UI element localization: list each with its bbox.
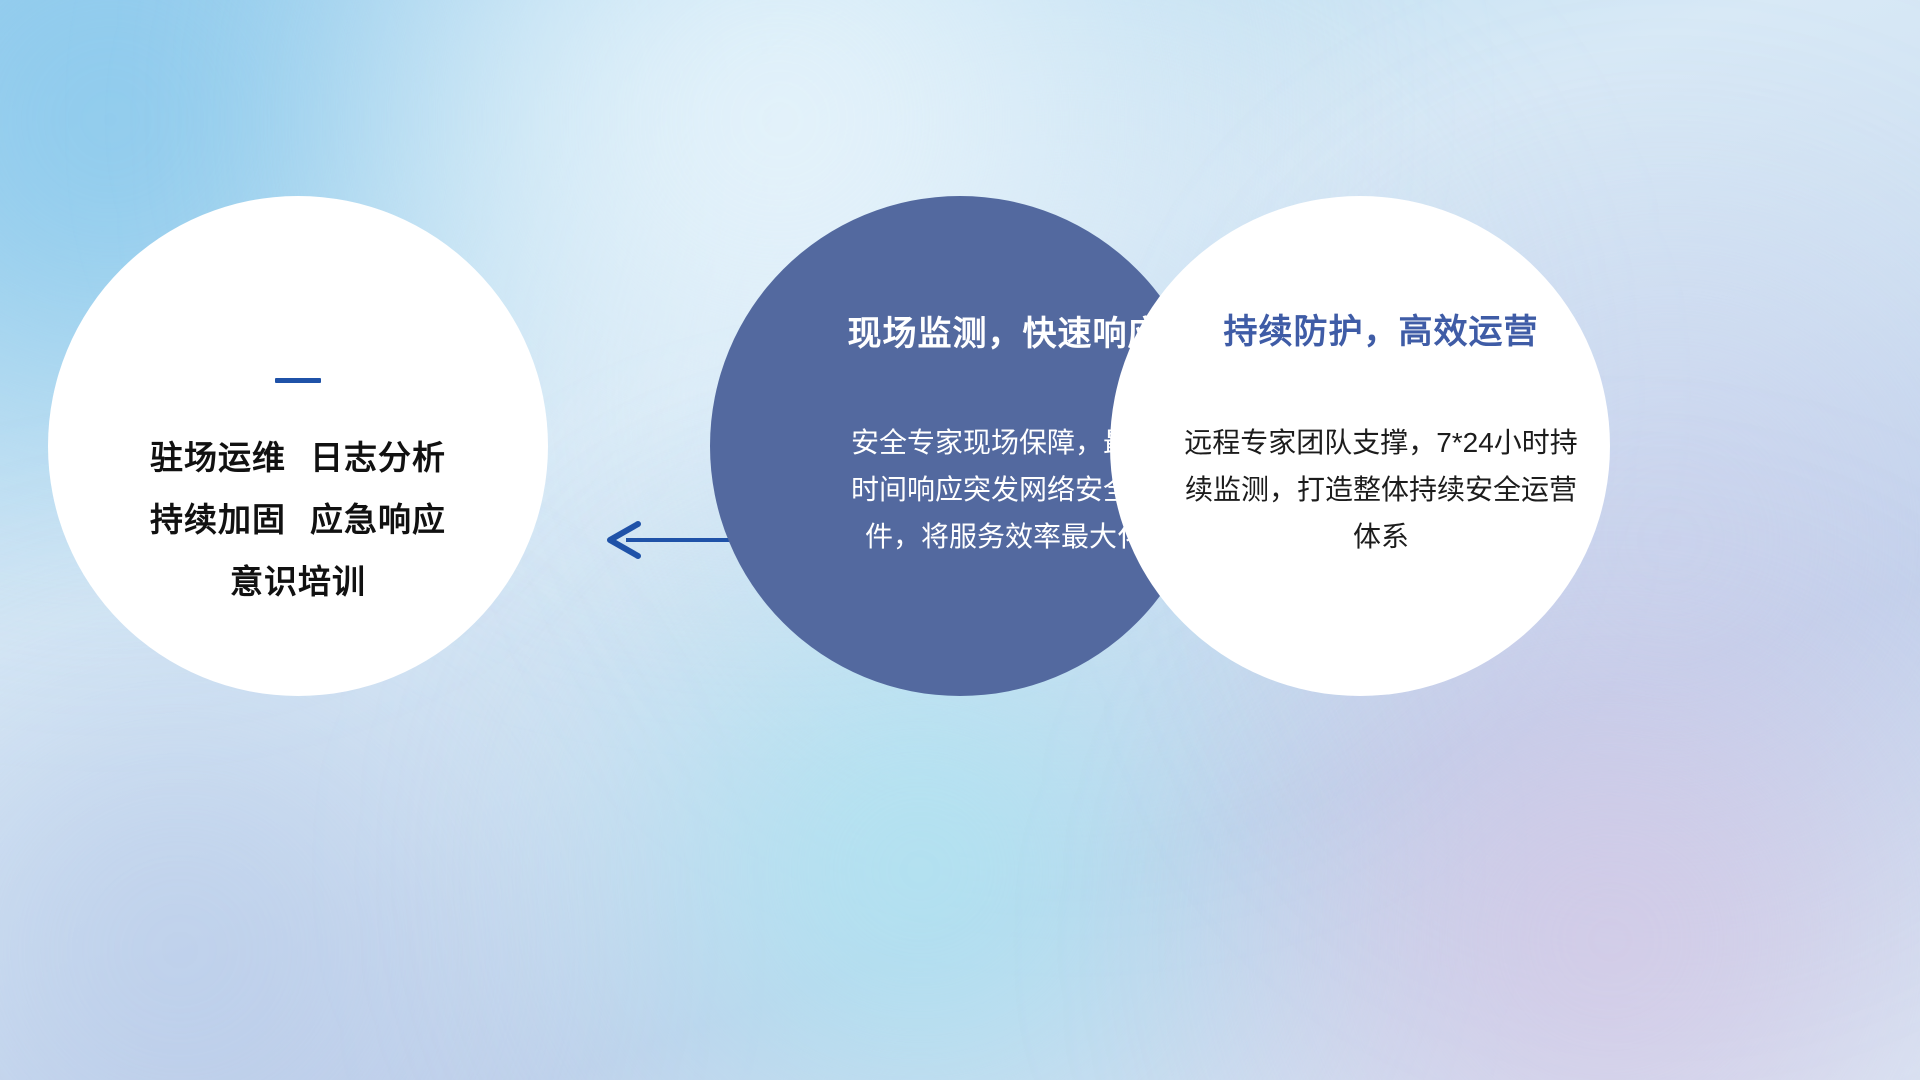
slide-canvas: 驻场运维日志分析 持续加固应急响应 意识培训 现场监测，快速响应 安全专家现场保… (0, 0, 1920, 1080)
keyword-row: 驻场运维日志分析 (150, 427, 446, 489)
keyword-item: 持续加固 (150, 501, 286, 538)
keyword-item: 驻场运维 (150, 439, 286, 476)
keyword-list: 驻场运维日志分析 持续加固应急响应 意识培训 (150, 427, 446, 613)
keyword-row: 意识培训 (150, 551, 446, 613)
keyword-item: 日志分析 (310, 439, 446, 476)
keyword-item: 意识培训 (230, 563, 366, 600)
left-circle-content: 驻场运维日志分析 持续加固应急响应 意识培训 (48, 196, 548, 696)
divider-line (275, 378, 321, 383)
keyword-row: 持续加固应急响应 (150, 489, 446, 551)
keyword-item: 应急响应 (310, 501, 446, 538)
right-circle-shape[interactable] (1110, 196, 1610, 696)
